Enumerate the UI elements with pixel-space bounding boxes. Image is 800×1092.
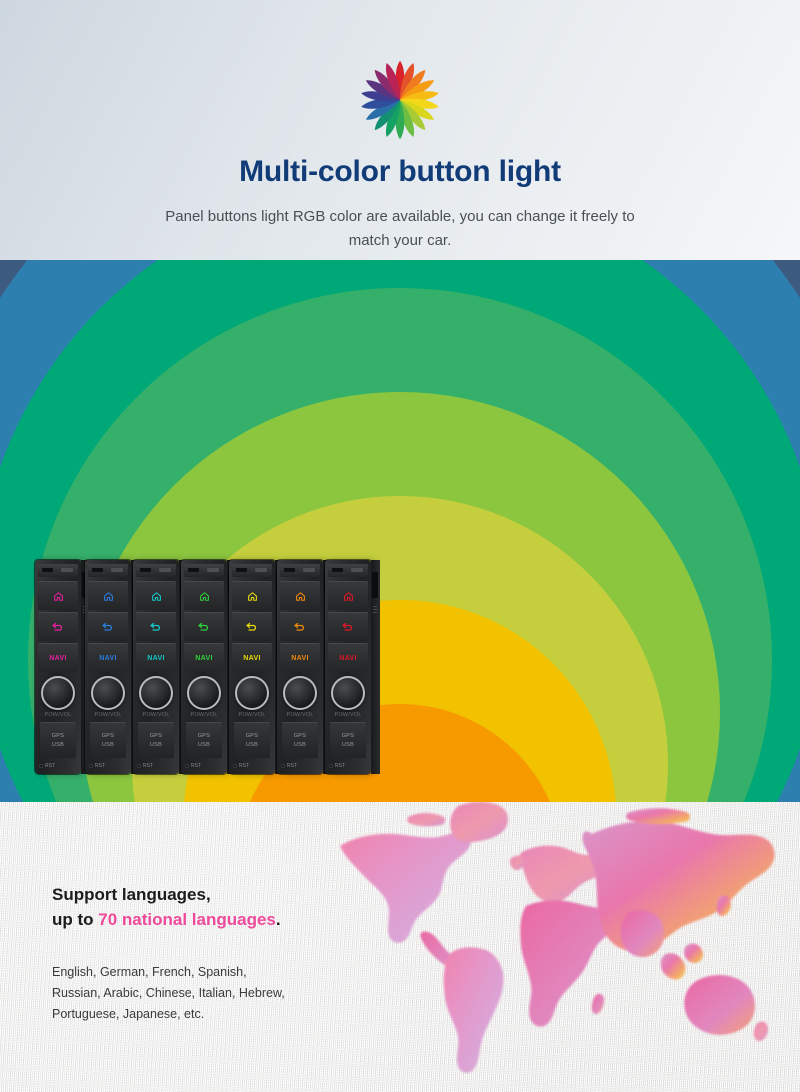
gps-label: GPS [342, 733, 355, 739]
rst-label: RST [239, 763, 249, 769]
languages-list-line1: English, German, French, Spanish, [52, 965, 247, 979]
watercolor-world-map [330, 802, 800, 1092]
home-icon [53, 591, 64, 602]
reset-button[interactable]: RST [89, 763, 105, 769]
unit-back-button[interactable] [280, 612, 320, 641]
back-arrow-icon [341, 622, 356, 633]
unit-home-button[interactable] [184, 581, 224, 610]
gps-label: GPS [294, 733, 307, 739]
unit-back-button[interactable] [88, 612, 128, 641]
rst-label: RST [45, 763, 55, 769]
home-icon [295, 591, 306, 602]
home-icon [151, 591, 162, 602]
unit-gps-usb-button[interactable]: GPSUSB [138, 722, 174, 758]
navi-label: NAVI [291, 655, 308, 662]
unit-back-button[interactable] [184, 612, 224, 641]
unit-back-button[interactable] [328, 612, 368, 641]
home-icon [199, 591, 210, 602]
power-volume-knob[interactable] [235, 676, 269, 710]
rst-label: RST [95, 763, 105, 769]
unit-navi-button[interactable]: NAVI [328, 643, 368, 672]
usb-label: USB [342, 742, 354, 748]
power-volume-knob[interactable] [91, 676, 125, 710]
languages-list-line2: Russian, Arabic, Chinese, Italian, Hebre… [52, 986, 285, 1000]
powvol-label: POW/VOL [325, 712, 371, 718]
gps-label: GPS [52, 733, 65, 739]
unit-top-strip [88, 564, 128, 577]
unit-navi-button[interactable]: NAVI [88, 643, 128, 672]
languages-list-line3: Portuguese, Japanese, etc. [52, 1007, 204, 1021]
back-arrow-icon [245, 622, 260, 633]
unit-red: NAVIPOW/VOLGPSUSBRST [325, 560, 371, 774]
gps-label: GPS [102, 733, 115, 739]
navi-label: NAVI [99, 655, 116, 662]
power-volume-knob[interactable] [139, 676, 173, 710]
powvol-label: POW/VOL [133, 712, 179, 718]
unit-blue: NAVIPOW/VOLGPSUSBRST [85, 560, 131, 774]
home-icon [343, 591, 354, 602]
languages-list: English, German, French, Spanish, Russia… [52, 962, 382, 1025]
color-wheel-icon [352, 52, 448, 148]
usb-label: USB [294, 742, 306, 748]
back-arrow-icon [101, 622, 116, 633]
languages-heading-line1: Support languages, [52, 885, 211, 904]
unit-navi-button[interactable]: NAVI [280, 643, 320, 672]
unit-top-strip [136, 564, 176, 577]
gps-label: GPS [246, 733, 259, 739]
power-volume-knob[interactable] [331, 676, 365, 710]
unit-gps-usb-button[interactable]: GPSUSB [90, 722, 126, 758]
reset-button[interactable]: RST [281, 763, 297, 769]
usb-label: USB [52, 742, 64, 748]
back-arrow-icon [197, 622, 212, 633]
rst-label: RST [335, 763, 345, 769]
unit-top-strip [280, 564, 320, 577]
powvol-label: POW/VOL [85, 712, 131, 718]
navi-label: NAVI [49, 655, 66, 662]
unit-navi-button[interactable]: NAVI [232, 643, 272, 672]
reset-button[interactable]: RST [137, 763, 153, 769]
languages-heading-prefix: up to [52, 910, 98, 929]
unit-navi-button[interactable]: NAVI [184, 643, 224, 672]
unit-top-strip [184, 564, 224, 577]
unit-home-button[interactable] [38, 581, 78, 610]
power-volume-knob[interactable] [283, 676, 317, 710]
reset-button[interactable]: RST [329, 763, 345, 769]
gps-label: GPS [150, 733, 163, 739]
unit-home-button[interactable] [232, 581, 272, 610]
gps-label: GPS [198, 733, 211, 739]
unit-gps-usb-button[interactable]: GPSUSB [330, 722, 366, 758]
power-volume-knob[interactable] [187, 676, 221, 710]
rst-label: RST [143, 763, 153, 769]
usb-label: USB [246, 742, 258, 748]
unit-gps-usb-button[interactable]: GPSUSB [234, 722, 270, 758]
usb-label: USB [102, 742, 114, 748]
usb-label: USB [198, 742, 210, 748]
reset-button[interactable]: RST [185, 763, 201, 769]
rst-label: RST [191, 763, 201, 769]
languages-heading: Support languages, up to 70 national lan… [52, 882, 382, 932]
reset-button[interactable]: RST [39, 763, 55, 769]
unit-back-button[interactable] [232, 612, 272, 641]
unit-side-column [371, 560, 380, 774]
powvol-label: POW/VOL [181, 712, 227, 718]
languages-count-highlight: 70 national languages [98, 910, 276, 929]
hero-section: Multi-color button light Panel buttons l… [0, 0, 800, 802]
hero-subcopy: Panel buttons light RGB color are availa… [165, 205, 635, 253]
rst-label: RST [287, 763, 297, 769]
unit-home-button[interactable] [280, 581, 320, 610]
unit-top-strip [232, 564, 272, 577]
back-arrow-icon [51, 622, 66, 633]
unit-top-strip [38, 564, 78, 577]
unit-back-button[interactable] [136, 612, 176, 641]
page-title: Multi-color button light [0, 155, 800, 189]
navi-label: NAVI [339, 655, 356, 662]
home-icon [247, 591, 258, 602]
navi-label: NAVI [243, 655, 260, 662]
unit-magenta: NAVIPOW/VOLGPSUSBRST [35, 560, 81, 774]
unit-home-button[interactable] [88, 581, 128, 610]
navi-label: NAVI [195, 655, 212, 662]
unit-navi-button[interactable]: NAVI [38, 643, 78, 672]
home-icon [103, 591, 114, 602]
unit-back-button[interactable] [38, 612, 78, 641]
back-arrow-icon [149, 622, 164, 633]
languages-section: Support languages, up to 70 national lan… [0, 802, 800, 1092]
unit-gps-usb-button[interactable]: GPSUSB [186, 722, 222, 758]
powvol-label: POW/VOL [35, 712, 81, 718]
unit-green: NAVIPOW/VOLGPSUSBRST [181, 560, 227, 774]
unit-yellow: NAVIPOW/VOLGPSUSBRST [229, 560, 275, 774]
navi-label: NAVI [147, 655, 164, 662]
usb-label: USB [150, 742, 162, 748]
unit-cyan: NAVIPOW/VOLGPSUSBRST [133, 560, 179, 774]
reset-button[interactable]: RST [233, 763, 249, 769]
languages-heading-suffix: . [276, 910, 281, 929]
powvol-label: POW/VOL [277, 712, 323, 718]
powvol-label: POW/VOL [229, 712, 275, 718]
back-arrow-icon [293, 622, 308, 633]
unit-top-strip [328, 564, 368, 577]
power-volume-knob[interactable] [41, 676, 75, 710]
unit-home-button[interactable] [328, 581, 368, 610]
unit-navi-button[interactable]: NAVI [136, 643, 176, 672]
logo-container [0, 52, 800, 148]
unit-gps-usb-button[interactable]: GPSUSB [40, 722, 76, 758]
unit-orange: NAVIPOW/VOLGPSUSBRST [277, 560, 323, 774]
unit-home-button[interactable] [136, 581, 176, 610]
unit-gps-usb-button[interactable]: GPSUSB [282, 722, 318, 758]
